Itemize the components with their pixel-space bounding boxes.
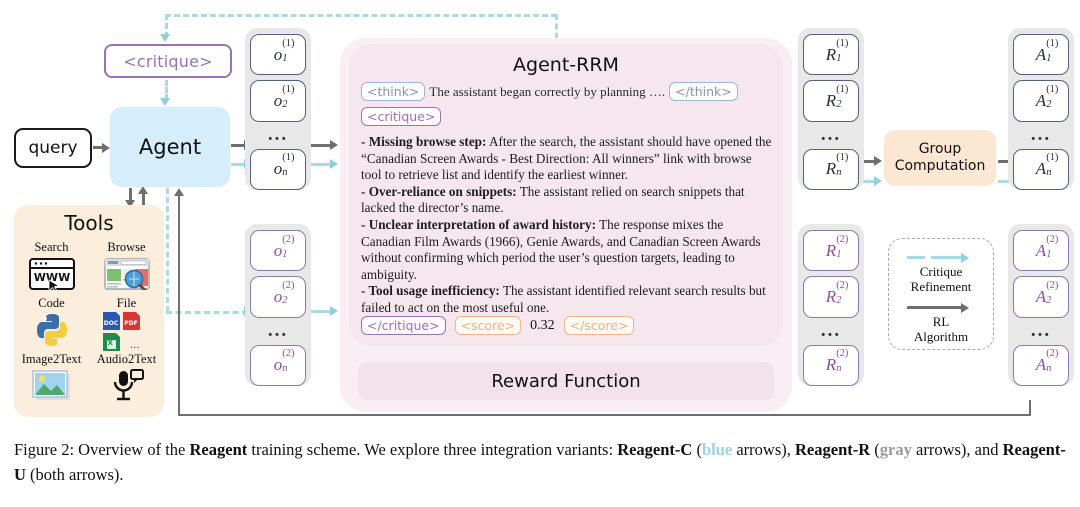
- tool-search-label: Search: [18, 241, 86, 255]
- score-open-tag: <score>: [455, 316, 522, 335]
- reward-cell-r1-1[interactable]: R(1)1: [803, 34, 859, 75]
- image-icon: [15, 366, 89, 404]
- advantage-symbol: A(2)n: [1036, 355, 1046, 375]
- think-text: The assistant began correctly by plannin…: [429, 84, 665, 100]
- output-symbol: o(2)1: [274, 241, 283, 261]
- advantage-cell-a1-n[interactable]: A(1)n: [1013, 149, 1069, 190]
- critique-bullet-2-title: - Over-reliance on snippets:: [361, 184, 517, 199]
- critique-open-tag: <critique>: [361, 107, 441, 126]
- critique-bullet-4: - Tool usage inefficiency: The assistant…: [361, 283, 773, 316]
- reward-cell-r2-1[interactable]: R(2)1: [803, 230, 859, 271]
- caption-suffix: (both arrows).: [26, 465, 124, 484]
- tool-image2text-label: Image2Text: [15, 353, 89, 367]
- legend-box: Critique Refinement RL Algorithm: [888, 238, 994, 350]
- tool-search[interactable]: Search WWW: [18, 241, 86, 293]
- advantages-group1-stack: A(1)1 A(1)2 ... A(1)n: [1008, 28, 1074, 190]
- dashed-blue-arrowhead-critique: [160, 34, 170, 42]
- rewards-group2-stack: R(2)1 R(2)2 ... R(2)n: [798, 224, 864, 386]
- critique-bullet-3-title: - Unclear interpretation of award histor…: [361, 217, 596, 232]
- caption-mid3: arrows),: [732, 440, 795, 459]
- caption-mid5: arrows), and: [912, 440, 1003, 459]
- figure-canvas: query <critique> Agent Tools Search WWW: [0, 0, 1080, 507]
- feedback-loop-arrowhead: [174, 188, 184, 196]
- legend-gray-arrow: [907, 303, 977, 313]
- output-cell-o2-1[interactable]: o(2)1: [250, 230, 306, 271]
- arrow-o2-to-rrm-blue-head: [330, 306, 338, 316]
- arrow-o1-to-rrm-head: [330, 140, 338, 150]
- critique-tag-box[interactable]: <critique>: [104, 44, 232, 78]
- output-cell-o2-n[interactable]: o(2)n: [250, 345, 306, 386]
- legend-gray-label-line1: RL: [889, 315, 993, 330]
- tools-row-3: Image2Text Audio2Text: [14, 353, 164, 405]
- reward-symbol: R(2)n: [826, 355, 836, 375]
- legend-blue-label-line2: Refinement: [889, 280, 993, 295]
- tools-grid: Search WWW Browse: [14, 241, 164, 406]
- advantage-symbol: A(1)n: [1036, 159, 1046, 179]
- advantage-cell-a2-1[interactable]: A(2)1: [1013, 230, 1069, 271]
- figure-caption: Figure 2: Overview of the Reagent traini…: [14, 437, 1066, 487]
- advantage-cell-a2-n[interactable]: A(2)n: [1013, 345, 1069, 386]
- critique-bullet-1-title: - Missing browse step:: [361, 134, 486, 149]
- critique-bullet-3: - Unclear interpretation of award histor…: [361, 217, 773, 283]
- advantage-symbol: A(1)2: [1036, 91, 1046, 111]
- caption-bold-reagent-r: Reagent-R: [795, 440, 870, 459]
- caption-gray-word: gray: [880, 440, 912, 459]
- advantage-symbol: A(2)1: [1036, 241, 1046, 261]
- arrow-r-to-group-blue-head: [874, 176, 882, 186]
- caption-blue-word: blue: [702, 440, 732, 459]
- dashed-blue-critique-to-agent: [165, 80, 168, 100]
- critique-bullet-4-title: - Tool usage inefficiency:: [361, 283, 500, 298]
- caption-mid1: training scheme. We explore three integr…: [247, 440, 617, 459]
- outputs-group1-stack: o(1)1 o(1)2 ... o(1)n: [245, 28, 311, 190]
- dashed-blue-top-line: [165, 14, 557, 17]
- advantage-symbol: A(1)1: [1036, 45, 1046, 65]
- caption-mid4: (: [870, 440, 880, 459]
- tools-title: Tools: [14, 211, 164, 235]
- advantage-cell-a2-2[interactable]: A(2)2: [1013, 276, 1069, 317]
- microphone-icon: [90, 366, 164, 404]
- output-cell-o1-n[interactable]: o(1)n: [250, 149, 306, 190]
- arrow-tools-to-agent-head: [138, 186, 148, 194]
- critique-close-tag: </critique>: [361, 316, 446, 335]
- tools-panel: Tools Search WWW B: [14, 205, 164, 417]
- dashed-blue-arrowhead-agent: [160, 98, 170, 106]
- feedback-loop-up: [178, 196, 180, 416]
- score-close-tag: </score>: [564, 316, 635, 335]
- outputs-group2-ellipsis: ...: [268, 318, 288, 345]
- advantage-cell-a1-2[interactable]: A(1)2: [1013, 80, 1069, 121]
- reward-symbol: R(1)n: [826, 159, 836, 179]
- query-box[interactable]: query: [14, 128, 92, 168]
- caption-mid2: (: [692, 440, 702, 459]
- dashed-blue-agent-down: [166, 188, 169, 312]
- advantage-cell-a1-1[interactable]: A(1)1: [1013, 34, 1069, 75]
- critique-bullet-2: - Over-reliance on snippets: The assista…: [361, 184, 773, 217]
- legend-blue-label-line1: Critique: [889, 265, 993, 280]
- advantages-group2-ellipsis: ...: [1031, 318, 1051, 345]
- group-computation-box[interactable]: Group Computation: [884, 130, 996, 186]
- reward-symbol: R(2)1: [826, 241, 836, 261]
- critique-bullet-1: - Missing browse step: After the search,…: [361, 134, 773, 184]
- reward-symbol: R(1)1: [826, 45, 836, 65]
- tool-image2text[interactable]: Image2Text: [15, 353, 89, 405]
- reward-symbol: R(1)2: [826, 91, 836, 111]
- rewards-group1-stack: R(1)1 R(1)2 ... R(1)n: [798, 28, 864, 190]
- group-computation-line2: Computation: [895, 158, 986, 176]
- svg-text:PDF: PDF: [124, 320, 137, 327]
- documents-icon: DOC PDF X ...: [93, 311, 161, 353]
- arrow-query-to-agent-head: [102, 143, 110, 153]
- rewards-group2-ellipsis: ...: [821, 318, 841, 345]
- tool-file-label: File: [93, 297, 161, 311]
- browser-www-icon: WWW: [18, 255, 86, 293]
- tools-row-2: Code File: [14, 297, 164, 353]
- output-symbol: o(1)1: [274, 45, 283, 65]
- python-logo-icon: [18, 311, 86, 349]
- think-close-tag: </think>: [669, 82, 738, 101]
- legend-blue-arrow: [907, 253, 977, 263]
- tool-code[interactable]: Code: [18, 297, 86, 349]
- tools-row-1: Search WWW Browse: [14, 241, 164, 293]
- reward-cell-r2-2[interactable]: R(2)2: [803, 276, 859, 317]
- legend-gray-label-line2: Algorithm: [889, 330, 993, 345]
- advantage-symbol: A(2)2: [1036, 287, 1046, 307]
- svg-text:X: X: [107, 339, 113, 347]
- reward-cell-r1-n[interactable]: R(1)n: [803, 149, 859, 190]
- score-value: 0.32: [530, 318, 555, 334]
- reward-cell-r2-n[interactable]: R(2)n: [803, 345, 859, 386]
- advantages-group1-ellipsis: ...: [1031, 122, 1051, 149]
- caption-prefix: Figure 2: Overview of the: [14, 440, 190, 459]
- feedback-loop-bottom: [178, 414, 1031, 416]
- output-symbol: o(1)n: [274, 159, 283, 179]
- think-line: <think> The assistant began correctly by…: [361, 82, 773, 101]
- caption-bold-reagent-c: Reagent-C: [617, 440, 692, 459]
- outputs-group2-stack: o(2)1 o(2)2 ... o(2)n: [245, 224, 311, 386]
- arrow-o1-to-rrm-blue-head: [330, 159, 338, 169]
- critique-open-wrap: <critique>: [361, 107, 441, 126]
- output-symbol: o(2)n: [274, 355, 283, 375]
- reward-cell-r1-2[interactable]: R(1)2: [803, 80, 859, 121]
- tool-audio2text-label: Audio2Text: [90, 353, 164, 367]
- legend-blue-label: Critique Refinement: [889, 265, 993, 295]
- reward-symbol: R(2)2: [826, 287, 836, 307]
- agent-rrm-title: Agent-RRM: [349, 54, 783, 76]
- tool-file[interactable]: File DOC PDF: [93, 297, 161, 353]
- agent-rrm-panel: Agent-RRM <think> The assistant began co…: [349, 44, 783, 346]
- tool-browse-label: Browse: [93, 241, 161, 255]
- browser-magnifier-icon: [93, 255, 161, 293]
- output-cell-o2-2[interactable]: o(2)2: [250, 276, 306, 317]
- output-symbol: o(1)2: [274, 91, 283, 111]
- reward-function-box: Reward Function: [358, 362, 774, 400]
- think-open-tag: <think>: [361, 82, 425, 101]
- score-row: </critique> <score> 0.32 </score>: [361, 316, 634, 335]
- arrow-r-to-group-head: [874, 156, 882, 166]
- agent-box[interactable]: Agent: [110, 107, 230, 187]
- output-cell-o1-1[interactable]: o(1)1: [250, 34, 306, 75]
- output-cell-o1-2[interactable]: o(1)2: [250, 80, 306, 121]
- svg-text:...: ...: [130, 340, 140, 351]
- rewards-group1-ellipsis: ...: [821, 122, 841, 149]
- advantages-group2-stack: A(2)1 A(2)2 ... A(2)n: [1008, 224, 1074, 386]
- tool-audio2text[interactable]: Audio2Text: [90, 353, 164, 405]
- tool-code-label: Code: [18, 297, 86, 311]
- critique-body: - Missing browse step: After the search,…: [361, 134, 773, 317]
- caption-bold-reagent: Reagent: [190, 440, 248, 459]
- group-computation-line1: Group: [919, 141, 962, 159]
- output-symbol: o(2)2: [274, 287, 283, 307]
- tool-browse[interactable]: Browse: [93, 241, 161, 293]
- outputs-group1-ellipsis: ...: [268, 122, 288, 149]
- svg-text:DOC: DOC: [103, 320, 118, 327]
- legend-gray-label: RL Algorithm: [889, 315, 993, 345]
